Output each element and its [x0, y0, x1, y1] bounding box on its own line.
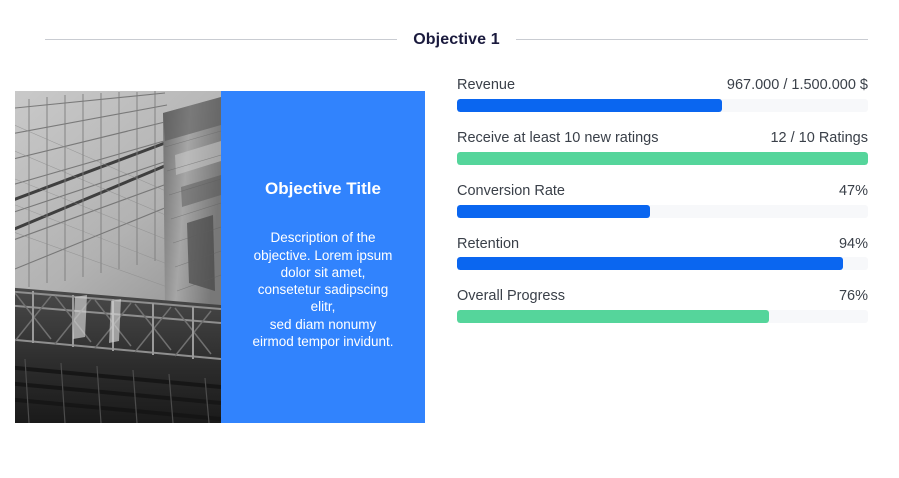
progress-value: 47%	[839, 182, 868, 201]
progress-label: Revenue	[457, 76, 515, 95]
progress-track	[457, 257, 868, 270]
objective-photo	[15, 91, 221, 423]
bridge-photo-graphic	[15, 91, 221, 423]
objective-text-panel: Objective Title Description of the objec…	[221, 91, 425, 423]
progress-label: Retention	[457, 235, 519, 254]
progress-list: Revenue 967.000 / 1.500.000 $ Receive at…	[457, 76, 868, 323]
progress-label: Receive at least 10 new ratings	[457, 129, 659, 148]
progress-fill	[457, 152, 868, 165]
progress-fill	[457, 205, 650, 218]
progress-track	[457, 99, 868, 112]
objective-title: Objective Title	[265, 179, 381, 199]
progress-row: Receive at least 10 new ratings 12 / 10 …	[457, 129, 868, 165]
page-header: Objective 1	[45, 26, 868, 54]
objective-card: Objective Title Description of the objec…	[15, 91, 425, 423]
progress-fill	[457, 257, 843, 270]
progress-row: Overall Progress 76%	[457, 287, 868, 323]
progress-fill	[457, 99, 722, 112]
progress-fill	[457, 310, 769, 323]
progress-header: Retention 94%	[457, 235, 868, 254]
progress-label: Overall Progress	[457, 287, 565, 306]
progress-track	[457, 205, 868, 218]
objective-description: Description of the objective. Lorem ipsu…	[252, 229, 393, 350]
progress-track	[457, 152, 868, 165]
progress-header: Conversion Rate 47%	[457, 182, 868, 201]
progress-label: Conversion Rate	[457, 182, 565, 201]
progress-track	[457, 310, 868, 323]
progress-row: Conversion Rate 47%	[457, 182, 868, 218]
progress-header: Revenue 967.000 / 1.500.000 $	[457, 76, 868, 95]
progress-header: Receive at least 10 new ratings 12 / 10 …	[457, 129, 868, 148]
progress-row: Retention 94%	[457, 235, 868, 271]
progress-row: Revenue 967.000 / 1.500.000 $	[457, 76, 868, 112]
progress-value: 76%	[839, 287, 868, 306]
progress-value: 967.000 / 1.500.000 $	[727, 76, 868, 95]
progress-value: 12 / 10 Ratings	[770, 129, 868, 148]
page-title: Objective 1	[397, 31, 515, 49]
progress-value: 94%	[839, 235, 868, 254]
progress-header: Overall Progress 76%	[457, 287, 868, 306]
